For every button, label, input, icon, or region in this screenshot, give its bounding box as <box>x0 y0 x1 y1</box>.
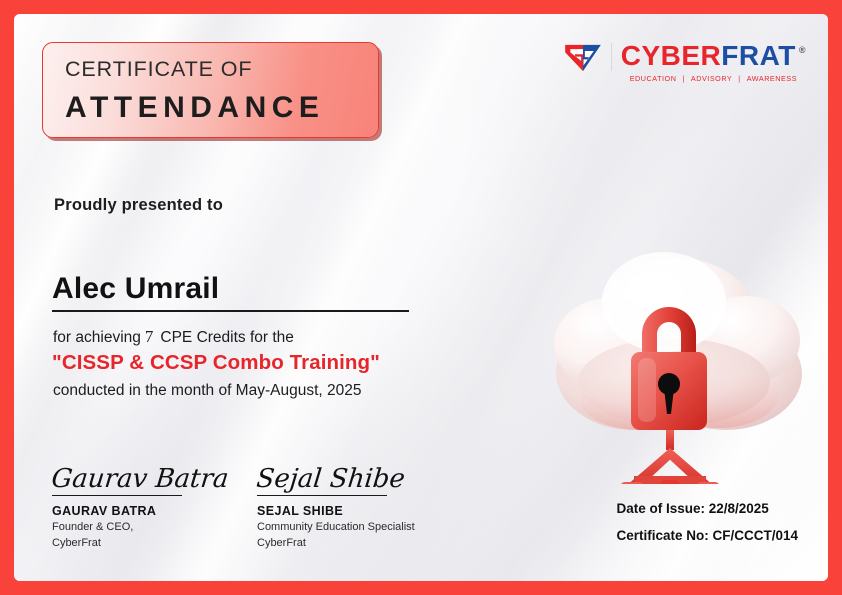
cyberfrat-shield-icon <box>564 43 602 73</box>
logo-divider <box>611 43 612 71</box>
cpe-credits-value: 7 <box>141 327 161 346</box>
date-of-issue: Date of Issue: 22/8/2025 <box>616 496 798 522</box>
achievement-line: for achieving7CPE Credits for the <box>53 327 294 347</box>
registered-trademark-icon: ® <box>799 46 806 55</box>
course-title: "CISSP & CCSP Combo Training" <box>52 351 380 375</box>
logo-word-row: CYBERFRAT® <box>621 42 806 70</box>
logo-word-cyber: CYBER <box>621 42 722 70</box>
certificate-number: Certificate No: CF/CCCT/014 <box>616 523 798 549</box>
presented-to-label: Proudly presented to <box>54 196 223 215</box>
signatory-role-gaurav: Founder & CEO, <box>52 520 232 535</box>
recipient-name-underline <box>52 310 409 312</box>
achievement-suffix: CPE Credits for the <box>160 329 294 346</box>
logo-word-frat: FRAT <box>721 42 796 70</box>
signatory-role-sejal: Community Education Specialist <box>257 520 457 535</box>
tagline-item-awareness: AWARENESS <box>744 74 800 83</box>
recipient-name: Alec Umrail <box>52 272 219 306</box>
logo-wordmark: CYBERFRAT® EDUCATION|ADVISORY|AWARENESS <box>621 42 806 83</box>
tagline-item-advisory: ADVISORY <box>688 74 735 83</box>
cloud-padlock-illustration <box>514 204 828 484</box>
signatory-org-sejal: CyberFrat <box>257 536 457 551</box>
certificate-title-badge: CERTIFICATE OF ATTENDANCE <box>42 42 379 138</box>
signature-script-sejal: Sejal Shibe <box>255 456 459 495</box>
signature-block-sejal: Sejal Shibe SEJAL SHIBE Community Educat… <box>257 456 457 551</box>
tagline-separator-1: | <box>679 74 687 83</box>
issue-info: Date of Issue: 22/8/2025 Certificate No:… <box>616 496 798 549</box>
certificate-inner: CERTIFICATE OF ATTENDANCE CYBERFRAT® EDU… <box>14 14 828 581</box>
signature-block-gaurav: Gaurav Batra GAURAV BATRA Founder & CEO,… <box>52 456 232 551</box>
signatory-name-gaurav: GAURAV BATRA <box>52 502 232 520</box>
signatory-name-sejal: SEJAL SHIBE <box>257 502 457 520</box>
tagline-item-education: EDUCATION <box>627 74 680 83</box>
signatory-org-gaurav: CyberFrat <box>52 536 232 551</box>
brand-logo: CYBERFRAT® EDUCATION|ADVISORY|AWARENESS <box>564 42 806 83</box>
certificate-card: CERTIFICATE OF ATTENDANCE CYBERFRAT® EDU… <box>0 0 842 595</box>
certificate-type-label: CERTIFICATE OF <box>65 59 378 81</box>
tagline-separator-2: | <box>735 74 743 83</box>
conducted-line: conducted in the month of May-August, 20… <box>53 382 361 400</box>
certificate-type-value: ATTENDANCE <box>65 93 378 123</box>
cloud-padlock-graphic <box>514 204 828 484</box>
logo-tagline: EDUCATION|ADVISORY|AWARENESS <box>621 74 806 83</box>
signature-script-gaurav: Gaurav Batra <box>50 456 234 495</box>
achievement-prefix: for achieving <box>53 329 141 346</box>
